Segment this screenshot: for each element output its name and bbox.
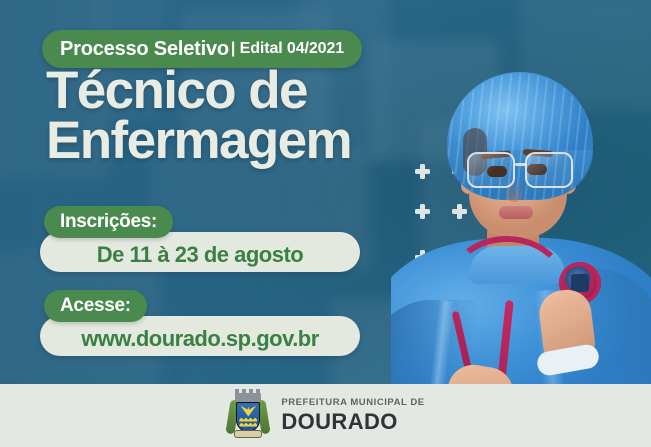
footer-line-small: PREFEITURA MUNICIPAL DE <box>281 398 424 408</box>
nurse-photo <box>391 0 651 447</box>
poster-canvas: Processo Seletivo | Edital 04/2021 Técni… <box>0 0 651 447</box>
coat-of-arms-icon <box>226 392 270 440</box>
footer-bar: PREFEITURA MUNICIPAL DE DOURADO <box>0 384 651 447</box>
footer-text: PREFEITURA MUNICIPAL DE DOURADO <box>281 398 424 433</box>
access-tag: Acesse: <box>44 290 147 322</box>
page-title-line2: Enfermagem <box>46 116 351 166</box>
registration-tag: Inscrições: <box>44 206 173 238</box>
footer-line-big: DOURADO <box>281 411 424 433</box>
process-badge-primary: Processo Seletivo <box>60 38 229 61</box>
access-pill[interactable]: www.dourado.sp.gov.br <box>40 316 360 356</box>
process-badge-secondary: | Edital 04/2021 <box>231 40 344 58</box>
page-title: Técnico de Enfermagem <box>46 66 351 166</box>
stethoscope-icon <box>391 0 651 447</box>
website-url[interactable]: www.dourado.sp.gov.br <box>81 321 319 352</box>
registration-pill: De 11 à 23 de agosto <box>40 232 360 272</box>
registration-dates: De 11 à 23 de agosto <box>97 237 303 268</box>
